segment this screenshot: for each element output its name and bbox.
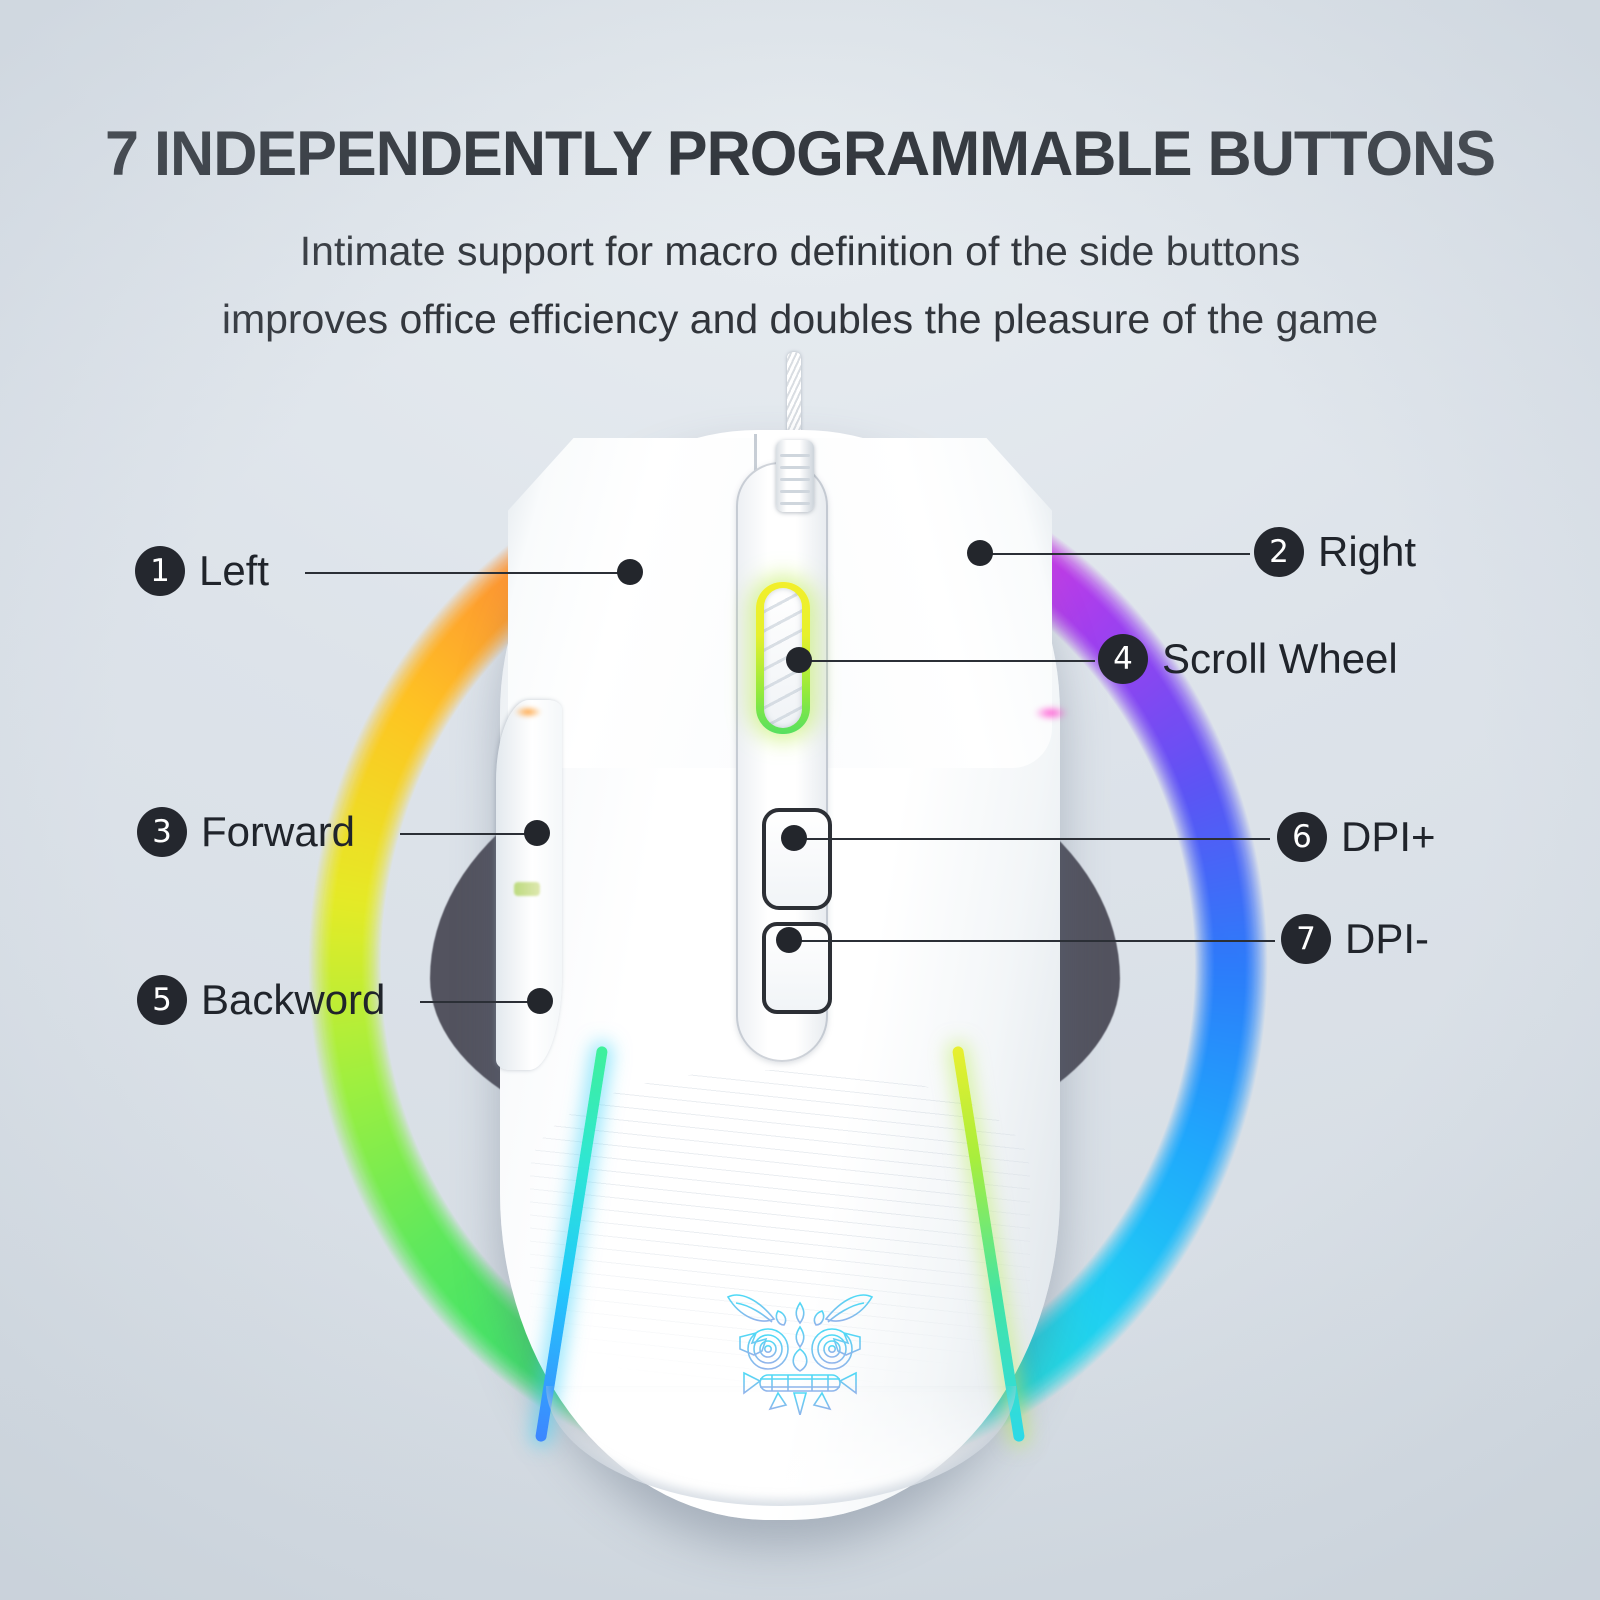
leader-line-left bbox=[305, 572, 630, 574]
callout-badge-6: 6 bbox=[1277, 812, 1327, 862]
onikuma-demon-mask-logo bbox=[710, 1275, 890, 1415]
callout-badge-3: 3 bbox=[137, 807, 187, 857]
cable-strain-relief bbox=[776, 440, 814, 512]
callout-badge-4: 4 bbox=[1098, 634, 1148, 684]
callout-label-scroll-wheel: Scroll Wheel bbox=[1162, 635, 1398, 683]
callout-label-dpi-plus: DPI+ bbox=[1341, 813, 1436, 861]
leader-line-dpi-minus bbox=[800, 940, 1275, 942]
callout-scroll-wheel[interactable]: 4 Scroll Wheel bbox=[1098, 634, 1398, 684]
callout-dot-dpi-plus bbox=[781, 825, 807, 851]
callout-dot-right-click bbox=[967, 540, 993, 566]
page-title: 7 INDEPENDENTLY PROGRAMMABLE BUTTONS bbox=[24, 118, 1576, 190]
callout-left[interactable]: 1 Left bbox=[135, 546, 269, 596]
callout-dpi-minus[interactable]: 7 DPI- bbox=[1281, 914, 1429, 964]
callout-dot-backword bbox=[527, 988, 553, 1014]
callout-label-left: Left bbox=[199, 547, 269, 595]
callout-right[interactable]: 2 Right bbox=[1254, 527, 1416, 577]
callout-forward[interactable]: 3 Forward bbox=[137, 807, 355, 857]
callout-dot-forward bbox=[524, 820, 550, 846]
callout-label-backword: Backword bbox=[201, 976, 385, 1024]
side-button-divider bbox=[514, 882, 540, 896]
page-subtitle-line-2: improves office efficiency and doubles t… bbox=[0, 290, 1600, 348]
callout-dot-scroll bbox=[786, 647, 812, 673]
pink-light-spark-icon bbox=[1034, 706, 1068, 720]
callout-label-right: Right bbox=[1318, 528, 1416, 576]
leader-line-dpi-plus bbox=[805, 838, 1270, 840]
callout-label-forward: Forward bbox=[201, 808, 355, 856]
callout-label-dpi-minus: DPI- bbox=[1345, 915, 1429, 963]
callout-dot-left-click bbox=[617, 559, 643, 585]
leader-line-scroll bbox=[800, 660, 1095, 662]
callout-badge-1: 1 bbox=[135, 546, 185, 596]
leader-line-backword bbox=[420, 1001, 540, 1003]
dpi-up-button[interactable] bbox=[762, 808, 832, 910]
callout-badge-2: 2 bbox=[1254, 527, 1304, 577]
page-subtitle-line-1: Intimate support for macro definition of… bbox=[0, 222, 1600, 280]
right-click-button[interactable] bbox=[800, 438, 1052, 768]
callout-dpi-plus[interactable]: 6 DPI+ bbox=[1277, 812, 1436, 862]
orange-light-spark-icon bbox=[514, 706, 542, 718]
leader-line-right bbox=[985, 553, 1250, 555]
callout-dot-dpi-minus bbox=[776, 927, 802, 953]
leader-line-forward bbox=[400, 833, 535, 835]
callout-badge-5: 5 bbox=[137, 975, 187, 1025]
callout-badge-7: 7 bbox=[1281, 914, 1331, 964]
callout-backword[interactable]: 5 Backword bbox=[137, 975, 385, 1025]
infographic-canvas: 7 INDEPENDENTLY PROGRAMMABLE BUTTONS Int… bbox=[0, 0, 1600, 1600]
